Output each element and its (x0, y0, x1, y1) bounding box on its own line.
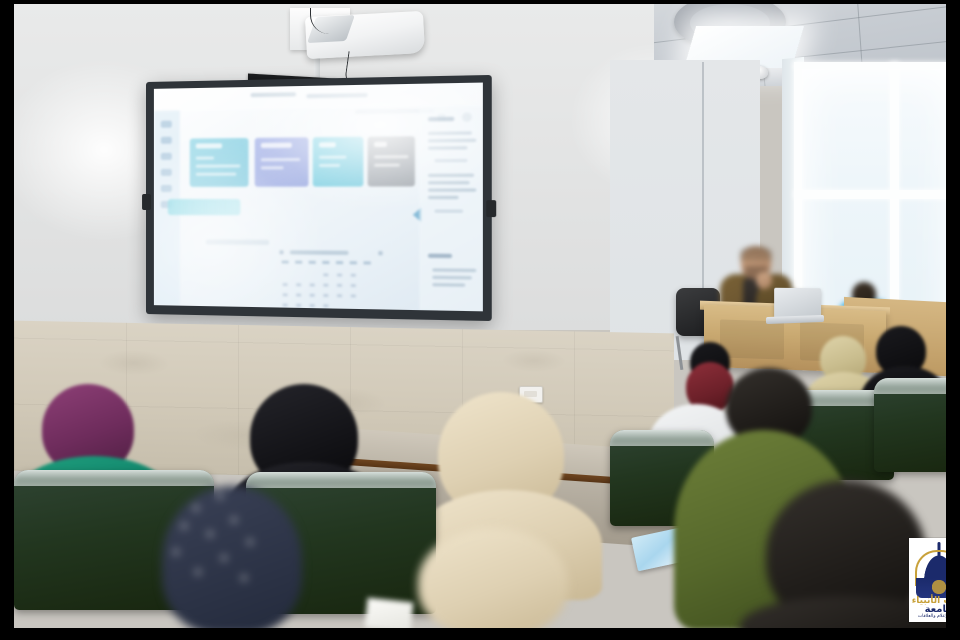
window-head (794, 62, 946, 69)
announcements-panel (419, 106, 483, 312)
laptop[interactable] (774, 288, 821, 319)
stylus-tray-right[interactable] (486, 200, 496, 217)
panel-section-title (428, 254, 452, 258)
letterbox-top (0, 0, 960, 4)
dashboard-card-3[interactable] (313, 137, 364, 187)
logo-emblem-icon (926, 580, 946, 594)
student-floral-hijab-head (162, 486, 302, 628)
dashboard-highlight-row[interactable] (168, 199, 241, 215)
university-logo: وارث الأنبياء جامعة قسم الإعلام والعلاقا… (909, 538, 946, 622)
letterbox-bottom (0, 628, 960, 640)
panel-title-text (428, 117, 454, 122)
apple-logo-icon (792, 298, 803, 310)
handout-paper (365, 598, 414, 628)
window-transom (794, 190, 946, 199)
student-foreground-right-head (418, 528, 568, 628)
dashboard-card-2[interactable] (255, 137, 309, 186)
letterbox-right (946, 0, 960, 640)
sidebar-item-4[interactable] (161, 169, 172, 176)
sidebar-item-1[interactable] (161, 121, 172, 128)
dashboard-card-1[interactable] (190, 138, 249, 187)
sidebar-item-5[interactable] (161, 185, 172, 192)
stylus-tray-left[interactable] (142, 194, 151, 210)
projected-dashboard (154, 83, 483, 312)
calendar-prev-icon[interactable] (279, 250, 283, 254)
logo-arabic-subtitle: قسم الإعلام والعلاقات (909, 614, 946, 619)
app-title-text (251, 92, 296, 97)
interactive-whiteboard[interactable] (146, 75, 492, 321)
calendar-widget[interactable] (279, 250, 382, 311)
photo-frame: وارث الأنبياء جامعة قسم الإعلام والعلاقا… (14, 0, 946, 628)
sidebar-item-2[interactable] (161, 137, 172, 144)
instructor-hand (756, 272, 772, 289)
dashboard-card-4[interactable] (368, 136, 415, 186)
photograph: وارث الأنبياء جامعة قسم الإعلام والعلاقا… (0, 0, 960, 640)
whiteboard-screen[interactable] (154, 83, 483, 312)
calendar-month-label (290, 250, 349, 255)
auditorium-chair[interactable] (874, 378, 946, 472)
calendar-next-icon[interactable] (378, 251, 382, 255)
sidebar-item-3[interactable] (161, 153, 172, 160)
letterbox-left (0, 0, 14, 640)
desk-drawer (720, 319, 784, 359)
instructor-hair (740, 246, 772, 261)
search-field[interactable] (206, 239, 269, 245)
